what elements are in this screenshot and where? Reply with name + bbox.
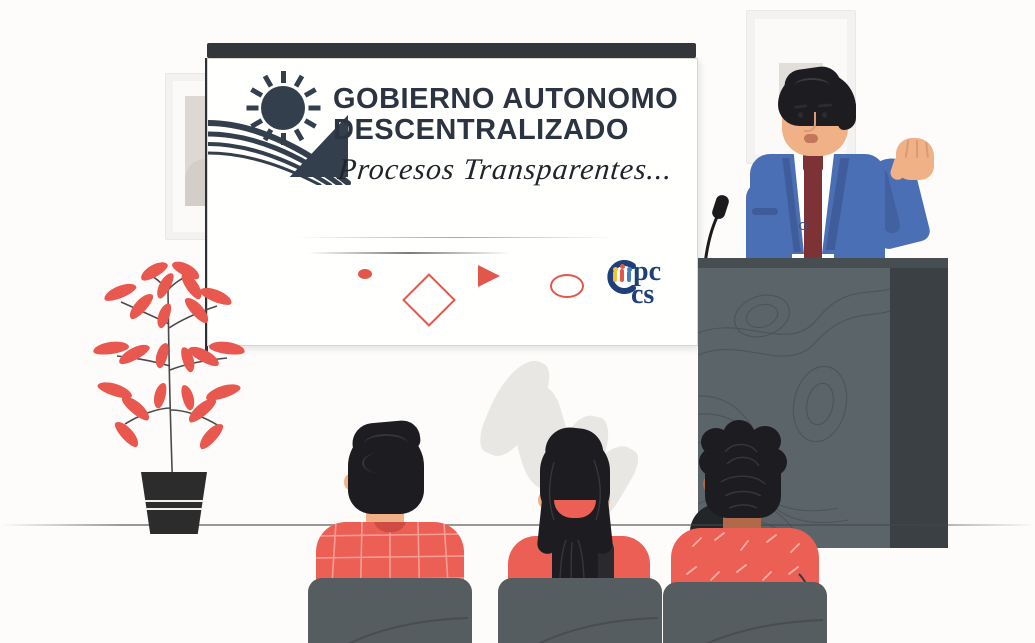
audience-member-left	[300, 418, 480, 643]
audience-member-center	[490, 418, 670, 643]
plant-pot	[141, 472, 207, 534]
screen-top-bar	[207, 43, 696, 58]
cpccs-figure-blue-head	[627, 267, 632, 272]
dot-shape	[358, 269, 372, 279]
slide-title-line1: GOBIERNO AUTONOMO	[333, 85, 678, 115]
audience-center-chair	[498, 578, 662, 643]
audience-right-chair	[663, 582, 827, 643]
projection-screen: GOBIERNO AUTONOMO DESCENTRALIZADO Proces…	[207, 58, 698, 346]
presenter-jacket-button	[799, 222, 807, 230]
presenter-hair-strand	[794, 78, 830, 94]
plant-pot-band-2	[145, 508, 203, 510]
audience-member-right	[655, 418, 835, 643]
plant-pot-band-1	[144, 500, 204, 502]
podium-top	[698, 258, 948, 268]
presenter-eye-right	[822, 112, 827, 118]
slide-title-line2: DESCENTRALIZADO	[333, 116, 629, 146]
cpccs-logo: pc cs	[603, 258, 677, 318]
slide-divider-top	[296, 237, 616, 238]
slide-divider-bottom	[308, 252, 510, 254]
presenter-mouth	[804, 134, 818, 143]
ellipse-shape	[550, 274, 584, 298]
presenter-sideburn	[838, 96, 856, 130]
audience-left-hair-strand-2	[362, 452, 404, 474]
audience-left-hair-strand	[364, 434, 408, 454]
podium-side-panel	[890, 268, 948, 548]
cpccs-figure-red	[620, 269, 624, 282]
gad-sun-hill-logo	[226, 73, 346, 183]
triangle-shape	[478, 265, 500, 287]
potted-plant	[95, 262, 255, 522]
cpccs-figure-yellow-head	[613, 267, 618, 272]
diamond-shape	[402, 273, 456, 327]
cpccs-text-line2: cs	[631, 281, 654, 309]
presenter-eye-left	[798, 112, 803, 118]
illustration-scene: GOBIERNO AUTONOMO DESCENTRALIZADO Proces…	[0, 0, 1035, 643]
presenter-tie	[804, 168, 822, 266]
presenter-finger-line-2	[916, 140, 918, 158]
slide-tagline: Procesos Transparentes...	[336, 153, 674, 187]
cpccs-figure-yellow	[613, 271, 617, 282]
cpccs-figure-red-head	[620, 264, 625, 269]
audience-right-hair-texture	[707, 436, 781, 518]
presenter-nose	[804, 112, 816, 132]
audience-left-chair	[308, 578, 472, 643]
